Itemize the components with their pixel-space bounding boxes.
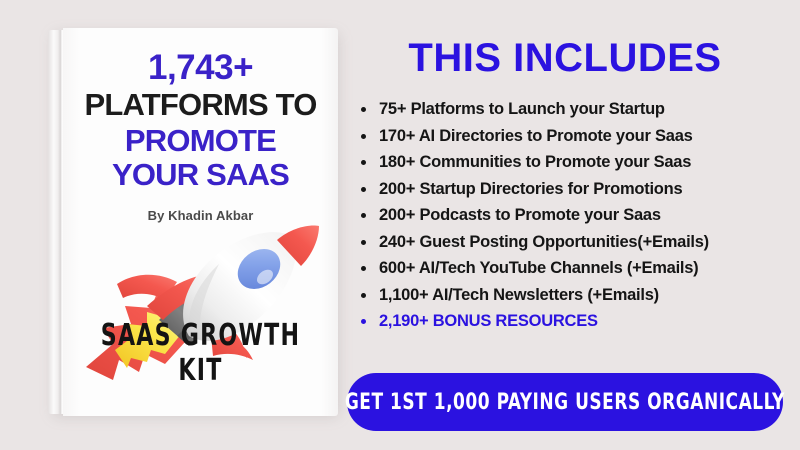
bullet-dot-icon: [361, 160, 366, 165]
list-item: 75+ Platforms to Launch your Startup: [361, 100, 783, 119]
cta-button-label: GET 1ST 1,000 PAYING USERS ORGANICALLY: [345, 390, 785, 415]
list-item-label: 600+ AI/Tech YouTube Channels (+Emails): [379, 259, 698, 277]
cta-button[interactable]: GET 1ST 1,000 PAYING USERS ORGANICALLY: [347, 373, 783, 431]
ebook-mockup: 1,743+ PLATFORMS TO PROMOTE YOUR SAAS By…: [48, 28, 338, 416]
list-item: 200+ Startup Directories for Promotions: [361, 180, 783, 199]
bullet-dot-icon: [361, 266, 366, 271]
includes-list: 75+ Platforms to Launch your Startup 170…: [347, 100, 783, 331]
promo-graphic: 1,743+ PLATFORMS TO PROMOTE YOUR SAAS By…: [0, 0, 800, 450]
list-item-label: 170+ AI Directories to Promote your Saas: [379, 127, 693, 145]
list-item-label: 180+ Communities to Promote your Saas: [379, 153, 691, 171]
bullet-dot-icon: [361, 319, 366, 324]
page-title: THIS INCLUDES: [347, 38, 783, 78]
offer-panel: THIS INCLUDES 75+ Platforms to Launch yo…: [347, 30, 783, 430]
bullet-dot-icon: [361, 240, 366, 245]
list-item: 1,100+ AI/Tech Newsletters (+Emails): [361, 286, 783, 305]
list-item-label: 240+ Guest Posting Opportunities(+Emails…: [379, 233, 709, 251]
book-cover: 1,743+ PLATFORMS TO PROMOTE YOUR SAAS By…: [63, 28, 338, 416]
book-byline: By Khadin Akbar: [63, 208, 338, 223]
list-item-label: 75+ Platforms to Launch your Startup: [379, 100, 665, 118]
list-item: 600+ AI/Tech YouTube Channels (+Emails): [361, 259, 783, 278]
list-item: 180+ Communities to Promote your Saas: [361, 153, 783, 172]
book-title-line4: YOUR SAAS: [63, 159, 338, 190]
book-title-line2: PLATFORMS TO: [63, 89, 338, 120]
book-footer-text: SAAS GROWTH KIT: [88, 318, 314, 388]
list-item-label: 200+ Podcasts to Promote your Saas: [379, 206, 661, 224]
book-title-line3: PROMOTE: [63, 125, 338, 156]
list-item: 240+ Guest Posting Opportunities(+Emails…: [361, 233, 783, 252]
book-spine: [48, 30, 64, 414]
list-item-label: 1,100+ AI/Tech Newsletters (+Emails): [379, 286, 659, 304]
bullet-dot-icon: [361, 293, 366, 298]
list-item: 200+ Podcasts to Promote your Saas: [361, 206, 783, 225]
list-item: 170+ AI Directories to Promote your Saas: [361, 127, 783, 146]
book-title-number: 1,743+: [63, 50, 338, 85]
list-item-label: 2,190+ BONUS RESOURCES: [379, 312, 598, 330]
bullet-dot-icon: [361, 134, 366, 139]
list-item-label: 200+ Startup Directories for Promotions: [379, 180, 682, 198]
bullet-dot-icon: [361, 213, 366, 218]
bullet-dot-icon: [361, 107, 366, 112]
book-title-block: 1,743+ PLATFORMS TO PROMOTE YOUR SAAS: [63, 50, 338, 193]
list-item-bonus: 2,190+ BONUS RESOURCES: [361, 312, 783, 331]
bullet-dot-icon: [361, 187, 366, 192]
